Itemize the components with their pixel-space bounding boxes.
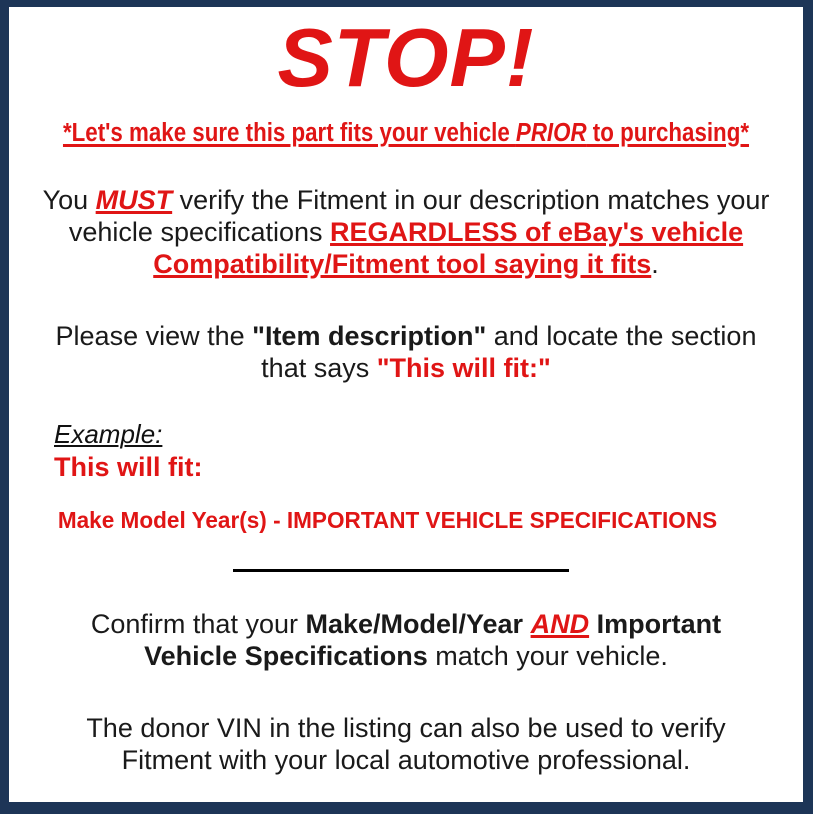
- must-verify-paragraph: You MUST verify the Fitment in our descr…: [41, 148, 771, 281]
- example-spec-line: Make Model Year(s) - IMPORTANT VEHICLE S…: [54, 482, 773, 533]
- confirm-paragraph: Confirm that your Make/Model/Year AND Im…: [41, 577, 771, 673]
- fitment-notice-card: STOP! *Let's make sure this part fits yo…: [0, 0, 813, 814]
- thank-you-message: Thank you for confirming Fitment!: [9, 777, 803, 814]
- confirm-text-1: Confirm that your: [91, 609, 306, 639]
- donor-vin-paragraph: The donor VIN in the listing can also be…: [41, 673, 771, 777]
- tagline-after: to purchasing*: [587, 119, 749, 147]
- notice-content-area: STOP! *Let's make sure this part fits yo…: [9, 7, 803, 802]
- this-will-fit-emphasis: "This will fit:": [377, 353, 551, 383]
- example-fit-heading: This will fit:: [54, 449, 803, 482]
- tagline-emphasis-prior: PRIOR: [516, 119, 587, 147]
- divider-wrapper: [9, 533, 803, 577]
- and-emphasis: AND: [531, 609, 590, 639]
- horizontal-divider: [233, 569, 569, 572]
- tagline-before: *Let's make sure this part fits your veh…: [63, 119, 516, 147]
- example-label: Example:: [54, 420, 162, 449]
- make-model-year-emphasis: Make/Model/Year: [305, 609, 523, 639]
- item-description-emphasis: "Item description": [252, 321, 486, 351]
- example-block: Example: This will fit: Make Model Year(…: [9, 385, 803, 534]
- view-text-1: Please view the: [56, 321, 253, 351]
- confirm-space-2: [589, 609, 597, 639]
- view-description-paragraph: Please view the "Item description" and l…: [41, 281, 771, 385]
- must-emphasis: MUST: [96, 185, 173, 215]
- confirm-space-1: [523, 609, 531, 639]
- tagline-text: *Let's make sure this part fits your veh…: [59, 99, 754, 148]
- stop-heading: STOP!: [9, 7, 803, 99]
- must-text-1: You: [43, 185, 96, 215]
- confirm-text-2: match your vehicle.: [428, 641, 668, 671]
- must-text-3: .: [651, 249, 659, 279]
